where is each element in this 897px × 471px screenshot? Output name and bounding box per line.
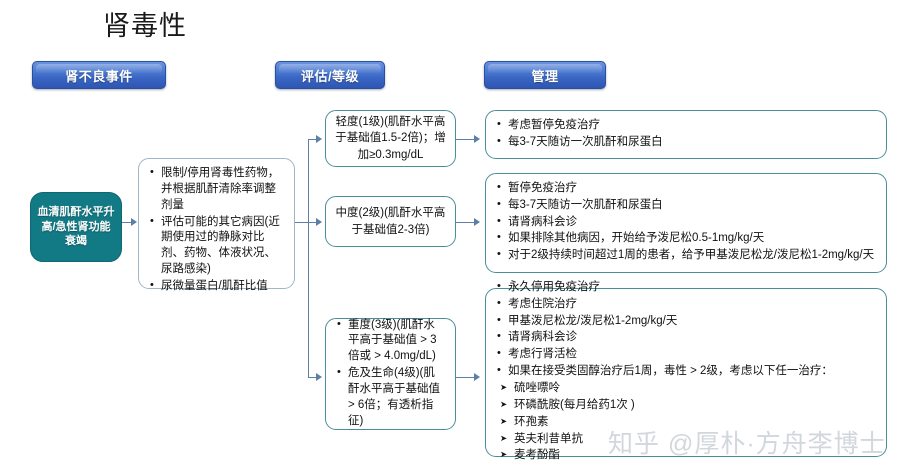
arrowhead-start-to-actions xyxy=(131,218,137,226)
list-item: 尿微量蛋白/肌酐比值 xyxy=(148,279,285,295)
list-item: 评估可能的其它病因(近期使用过的静脉对比剂、药物、体液状况、尿路感染) xyxy=(148,215,285,278)
list-item: 考虑住院治疗 xyxy=(495,297,833,313)
list-item: 如果排除其他病因，开始给予泼尼松0.5-1mg/kg/天 xyxy=(495,231,874,247)
list-item: 永久停用免疫治疗 xyxy=(495,280,833,296)
connector-actions-trunk-vertical xyxy=(308,139,309,377)
list-item: 暂停免疫治疗 xyxy=(495,181,874,197)
column-header-management[interactable]: 管理 xyxy=(484,61,606,89)
start-node-label: 血清肌酐水平升高/急性肾功能衰竭 xyxy=(36,205,116,250)
arrowhead-to-grade-3 xyxy=(316,373,322,381)
sub-list-item: 环孢素 xyxy=(499,415,833,431)
arrowhead-to-grade-2 xyxy=(316,218,322,226)
sub-list-item: 硫唑嘌呤 xyxy=(499,381,833,397)
page-title: 肾毒性 xyxy=(103,10,187,42)
list-item: 甲基泼尼松龙/泼尼松1-2mg/kg/天 xyxy=(495,314,833,330)
grade-label: 轻度(1级)(肌酐水平高于基础值1.5-2倍)；增加≥0.3mg/dL xyxy=(335,114,446,163)
management-list: 暂停免疫治疗 每3-7天随访一次肌酐和尿蛋白 请肾病科会诊 如果排除其他病因，开… xyxy=(495,181,874,265)
sub-list-item: 环磷酰胺(每月给药1次 ) xyxy=(499,398,833,414)
list-item: 限制/停用肾毒性药物，并根据肌酐清除率调整剂量 xyxy=(148,166,285,214)
start-node-serum-creatinine[interactable]: 血清肌酐水平升高/急性肾功能衰竭 xyxy=(30,192,122,262)
column-header-assessment-grade[interactable]: 评估/等级 xyxy=(275,61,385,89)
grade-box-severe-lifethreatening: 重度(3级)(肌酐水平高于基础值 > 3倍或 > 4.0mg/dL) 危及生命(… xyxy=(325,318,456,430)
sub-list-item: 麦考酚酯 xyxy=(499,448,833,464)
list-item: 每3-7天随访一次肌酐和尿蛋白 xyxy=(495,135,663,151)
list-item: 危及生命(4级)(肌酐水平高于基础值 > 6倍；有透析指征) xyxy=(335,366,446,429)
column-header-label: 管理 xyxy=(531,66,558,85)
grade-list: 重度(3级)(肌酐水平高于基础值 > 3倍或 > 4.0mg/dL) 危及生命(… xyxy=(335,318,446,431)
management-box-moderate: 暂停免疫治疗 每3-7天随访一次肌酐和尿蛋白 请肾病科会诊 如果排除其他病因，开… xyxy=(485,173,887,273)
management-list: 永久停用免疫治疗 考虑住院治疗 甲基泼尼松龙/泼尼松1-2mg/kg/天 请肾病… xyxy=(495,280,833,465)
arrowhead-to-mgmt-2 xyxy=(474,218,480,226)
column-header-label: 评估/等级 xyxy=(301,66,359,85)
list-item: 考虑行肾活检 xyxy=(495,347,833,363)
flowchart-canvas: 肾毒性 肾不良事件 评估/等级 管理 血清肌酐水平升高/急性肾功能衰竭 限制/停… xyxy=(0,0,897,471)
management-box-mild: 考虑暂停免疫治疗 每3-7天随访一次肌酐和尿蛋白 xyxy=(485,110,887,159)
list-item: 对于2级持续时间超过1周的患者，给予甲基泼尼松龙/泼尼松1-2mg/kg/天 xyxy=(495,248,874,264)
list-item: 重度(3级)(肌酐水平高于基础值 > 3倍或 > 4.0mg/dL) xyxy=(335,318,446,366)
arrowhead-to-grade-1 xyxy=(316,135,322,143)
arrowhead-to-mgmt-1 xyxy=(474,135,480,143)
list-item: 请肾病科会诊 xyxy=(495,330,833,346)
list-item: 考虑暂停免疫治疗 xyxy=(495,118,663,134)
grade-label: 中度(2级)(肌酐水平高于基础值2-3倍) xyxy=(335,205,446,238)
arrowhead-to-mgmt-3 xyxy=(474,373,480,381)
actions-list: 限制/停用肾毒性药物，并根据肌酐清除率调整剂量 评估可能的其它病因(近期使用过的… xyxy=(148,166,285,295)
actions-box: 限制/停用肾毒性药物，并根据肌酐清除率调整剂量 评估可能的其它病因(近期使用过的… xyxy=(138,158,295,289)
management-box-severe: 永久停用免疫治疗 考虑住院治疗 甲基泼尼松龙/泼尼松1-2mg/kg/天 请肾病… xyxy=(485,288,887,457)
sub-list-item: 英夫利昔单抗 xyxy=(499,432,833,448)
column-header-label: 肾不良事件 xyxy=(65,66,133,85)
list-item: 每3-7天随访一次肌酐和尿蛋白 xyxy=(495,198,874,214)
grade-box-moderate: 中度(2级)(肌酐水平高于基础值2-3倍) xyxy=(325,196,456,247)
connector-actions-trunk-stub xyxy=(295,222,309,223)
grade-box-mild: 轻度(1级)(肌酐水平高于基础值1.5-2倍)；增加≥0.3mg/dL xyxy=(325,110,456,167)
list-item: 如果在接受类固醇治疗后1周，毒性 > 2级，考虑以下任一治疗： xyxy=(495,364,833,380)
management-list: 考虑暂停免疫治疗 每3-7天随访一次肌酐和尿蛋白 xyxy=(495,118,663,152)
column-header-renal-adverse-event[interactable]: 肾不良事件 xyxy=(32,61,166,89)
list-item: 请肾病科会诊 xyxy=(495,215,874,231)
